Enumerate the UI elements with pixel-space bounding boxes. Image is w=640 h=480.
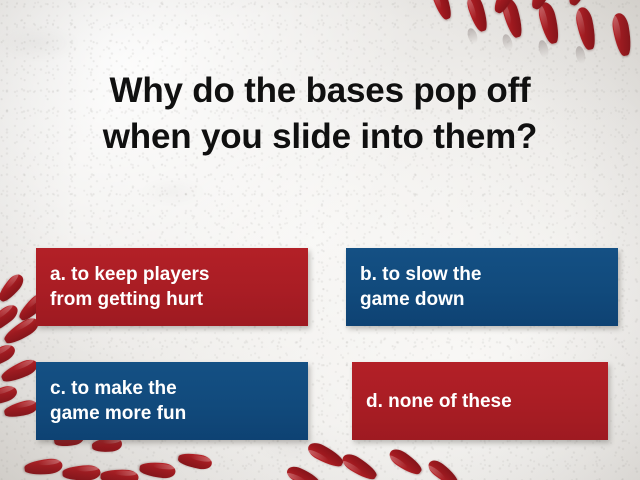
question-title-line-1: Why do the bases pop off <box>28 68 612 114</box>
answer-option-c-line-2: game more fun <box>50 401 294 426</box>
answer-option-a[interactable]: a. to keep players from getting hurt <box>36 248 308 326</box>
answer-option-b[interactable]: b. to slow the game down <box>346 248 618 326</box>
answer-option-a-line-2: from getting hurt <box>50 287 294 312</box>
quiz-slide: Why do the bases pop off when you slide … <box>0 0 640 480</box>
answer-option-d[interactable]: d. none of these <box>352 362 608 440</box>
answer-option-b-line-2: game down <box>360 287 604 312</box>
question-title-line-2: when you slide into them? <box>28 114 612 160</box>
answer-option-b-line-1: b. to slow the <box>360 262 604 287</box>
answer-option-a-line-1: a. to keep players <box>50 262 294 287</box>
answer-option-c[interactable]: c. to make the game more fun <box>36 362 308 440</box>
answer-option-c-line-1: c. to make the <box>50 376 294 401</box>
question-title: Why do the bases pop off when you slide … <box>28 68 612 160</box>
answer-option-d-line-1: d. none of these <box>366 389 594 414</box>
